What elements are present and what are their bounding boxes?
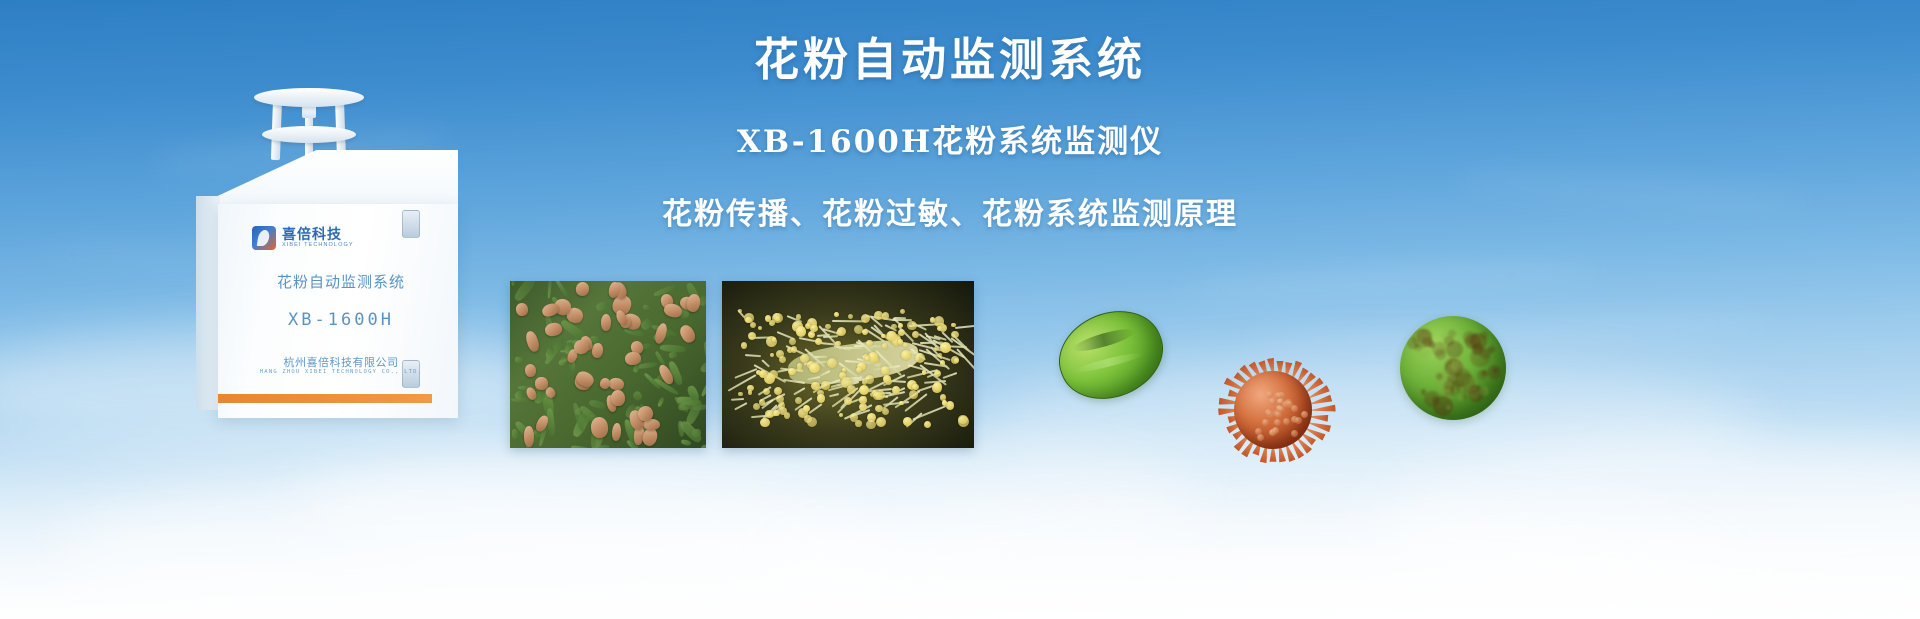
catkin-anther	[892, 386, 900, 394]
catkin-anther	[760, 418, 770, 428]
grain-surface-pit	[1291, 430, 1298, 437]
catkin-anther	[934, 346, 939, 351]
foliage-needle	[512, 281, 515, 286]
foliage-needle	[657, 397, 665, 408]
device-model-number: XB-1600H	[248, 310, 434, 330]
catkin-anther	[859, 385, 869, 395]
catkin-anther	[773, 410, 780, 417]
catkin-anther	[930, 317, 935, 322]
grain-blotch	[1488, 365, 1501, 378]
catkin-filament	[761, 359, 770, 367]
foliage-needle	[632, 390, 644, 402]
grain-blotch	[1472, 343, 1483, 354]
catkin-anther	[862, 329, 868, 335]
catkin-anther	[882, 343, 887, 348]
cloud	[60, 470, 880, 619]
catkin-anther	[817, 394, 826, 403]
catkin-anther	[922, 370, 927, 375]
catkin-anther	[898, 329, 905, 336]
pollen-cone	[608, 377, 624, 391]
grain-highlight	[1445, 354, 1458, 367]
catkin-anther	[765, 315, 771, 321]
intake-cap	[302, 106, 316, 118]
catkin-anther	[797, 363, 802, 368]
foliage-needle	[511, 398, 531, 403]
grain-surface-pit	[1269, 398, 1276, 405]
green-oval-pollen-grain	[1046, 296, 1176, 414]
foliage-needle	[595, 300, 610, 312]
catkin-anther	[876, 417, 886, 427]
catkin-filament	[829, 393, 839, 397]
enclosure-latch-top	[402, 210, 420, 238]
catkin-anther	[779, 407, 787, 415]
brand-name-cn: 喜倍科技	[282, 227, 354, 241]
catkin-anther	[886, 331, 897, 342]
catkin-anther	[844, 397, 852, 405]
intake-disc-upper	[254, 88, 364, 107]
catkin-anther	[779, 356, 786, 363]
green-textured-pollen-grain	[1400, 316, 1506, 420]
foliage-needle	[639, 317, 653, 331]
catkin-anther	[770, 353, 774, 357]
catkin-anther	[909, 390, 918, 399]
catkin-filament	[942, 372, 957, 379]
foliage-needle	[680, 439, 691, 446]
catkin-anther	[900, 309, 905, 314]
page-tagline: 花粉传播、花粉过敏、花粉系统监测原理	[600, 189, 1300, 233]
foliage-needle	[642, 304, 650, 311]
foliage-needle	[547, 281, 552, 298]
catkin-anther	[808, 331, 815, 338]
catkin-anther	[940, 360, 945, 365]
catkin-anther	[796, 326, 807, 337]
cloud	[1380, 440, 1920, 610]
catkin-filament	[731, 398, 744, 401]
page-subtitle: XB-1600H花粉系统监测仪	[600, 116, 1300, 161]
catkin-pollen-photo	[722, 281, 974, 448]
foliage-needle	[588, 399, 607, 411]
pollen-cone	[523, 426, 533, 447]
catkin-anther	[912, 384, 919, 391]
catkin-anther	[898, 339, 903, 344]
catkin-filament	[793, 387, 805, 395]
foliage-needle	[699, 362, 706, 374]
brand-text: 喜倍科技 XIBEI TECHNOLOGY	[282, 227, 354, 249]
grain-highlight	[1447, 393, 1453, 399]
horizon-haze	[0, 419, 1920, 619]
catkin-filament	[734, 402, 747, 410]
grain-surface-pit	[1278, 406, 1285, 413]
catkin-anther	[866, 420, 876, 430]
pollen-cone	[524, 363, 537, 377]
catkin-anther	[903, 417, 912, 426]
grain-highlight	[1479, 386, 1489, 396]
grain-surface-pit	[1262, 419, 1269, 426]
red-spiky-pollen-grain	[1218, 355, 1328, 465]
foliage-needle	[515, 357, 524, 364]
catkin-anther	[772, 313, 783, 324]
grain-highlight	[1437, 378, 1451, 392]
catkin-anther	[873, 392, 881, 400]
grain-blotch	[1424, 391, 1440, 407]
cloud-wisp	[1250, 311, 1771, 355]
foliage-needle	[668, 351, 677, 359]
catkin-anther	[898, 323, 903, 328]
grain-highlight	[1441, 331, 1453, 343]
cloud-wisp	[1180, 259, 1601, 303]
device-company-en: HANG ZHOU XIBEI TECHNOLOGY CO., LTD.	[242, 369, 440, 375]
pollen-cone	[590, 416, 609, 438]
catkin-anther	[738, 309, 742, 313]
foliage-needle	[701, 444, 706, 448]
catkin-anther	[951, 331, 958, 338]
catkin-anther	[912, 331, 919, 338]
grain-surface-pit	[1291, 405, 1298, 412]
catkin-anther	[882, 312, 890, 320]
headline-block: 花粉自动监测系统 XB-1600H花粉系统监测仪 花粉传播、花粉过敏、花粉系统监…	[600, 32, 1300, 233]
cloud	[300, 430, 1200, 580]
grain-blotch	[1477, 370, 1487, 380]
grain-surface-pit	[1283, 418, 1290, 425]
catkin-anther	[924, 421, 932, 429]
pollen-cone	[514, 302, 529, 317]
pollen-cone	[544, 321, 563, 337]
catkin-anther	[903, 343, 908, 348]
catkin-anther	[933, 382, 942, 391]
enclosure-side-panel	[196, 196, 220, 410]
catkin-anther	[859, 396, 866, 403]
grain-surface-pit	[1265, 409, 1272, 416]
catkin-anther	[834, 312, 839, 317]
catkin-anther	[861, 314, 871, 324]
catkin-anther	[883, 375, 890, 382]
catkin-anther	[946, 401, 954, 409]
catkin-anther	[881, 366, 890, 375]
grain-surface-pit	[1266, 391, 1273, 398]
catkin-anther	[748, 390, 753, 395]
catkin-anther	[809, 363, 820, 374]
catkin-anther	[738, 392, 743, 397]
catkin-anther	[915, 353, 925, 363]
catkin-anther	[899, 401, 904, 406]
foliage-needle	[554, 281, 569, 299]
pollen-cone	[575, 281, 591, 297]
cypress-cones-photo	[510, 281, 706, 448]
foliage-needle	[512, 281, 537, 303]
catkin-anther	[856, 367, 862, 373]
catkin-filament	[745, 354, 761, 357]
catkin-anther	[850, 413, 858, 421]
catkin-anther	[937, 326, 942, 331]
pollen-cone	[677, 323, 697, 344]
page-title: 花粉自动监测系统	[600, 32, 1300, 88]
foliage-needle	[700, 370, 706, 398]
catkin-anther	[942, 400, 947, 405]
pollen-cone	[535, 377, 548, 390]
catkin-anther	[839, 413, 843, 417]
catkin-anther	[934, 370, 941, 377]
catkin-anther	[753, 403, 760, 410]
pollen-cone	[601, 314, 611, 331]
catkin-anther	[837, 327, 846, 336]
device-brand-lockup: 喜倍科技 XIBEI TECHNOLOGY	[252, 226, 354, 250]
air-intake-stack	[254, 78, 364, 160]
xibei-logo-icon	[252, 226, 276, 250]
catkin-anther	[954, 358, 959, 363]
grain-surface-pit	[1301, 411, 1308, 418]
cloud-wisp	[1450, 167, 1811, 212]
grain-highlight	[1418, 345, 1431, 358]
catkin-anther	[891, 324, 896, 329]
grain-surface-pit	[1274, 419, 1281, 426]
catkin-anther	[875, 405, 883, 413]
grain-surface-pit	[1272, 427, 1279, 434]
pollen-cone	[611, 423, 622, 442]
catkin-anther	[791, 346, 797, 352]
cloud	[760, 500, 1740, 619]
catkin-anther	[907, 321, 916, 330]
device-company-cn: 杭州喜倍科技有限公司	[242, 354, 440, 370]
catkin-anther	[748, 332, 756, 340]
catkin-anther	[940, 342, 951, 353]
catkin-anther	[758, 326, 763, 331]
catkin-filament	[809, 403, 823, 414]
enclosure-top	[196, 150, 458, 206]
grain-highlight	[1457, 394, 1464, 401]
catkin-filament	[955, 324, 974, 329]
catkin-anther	[865, 375, 874, 384]
brand-name-en: XIBEI TECHNOLOGY	[282, 243, 354, 249]
pollen-monitor-device: 喜倍科技 XIBEI TECHNOLOGY 花粉自动监测系统 XB-1600H …	[196, 78, 458, 428]
catkin-anther	[741, 342, 747, 348]
catkin-anther	[835, 341, 840, 346]
pollen-monitoring-banner: 花粉自动监测系统 XB-1600H花粉系统监测仪 花粉传播、花粉过敏、花粉系统监…	[0, 0, 1920, 619]
catkin-anther	[825, 324, 830, 329]
intake-disc-lower	[262, 126, 356, 143]
catkin-anther	[938, 353, 942, 357]
catkin-anther	[821, 381, 829, 389]
catkin-anther	[810, 325, 818, 333]
catkin-anther	[796, 314, 801, 319]
device-product-name: 花粉自动监测系统	[248, 271, 434, 292]
grain-surface-pit	[1295, 417, 1302, 424]
catkin-anther	[789, 338, 795, 344]
grain-highlight	[1446, 405, 1451, 410]
catkin-anther	[951, 323, 956, 328]
accent-band	[218, 394, 432, 403]
catkin-anther	[848, 314, 853, 319]
spiky-grain-body	[1234, 371, 1312, 449]
